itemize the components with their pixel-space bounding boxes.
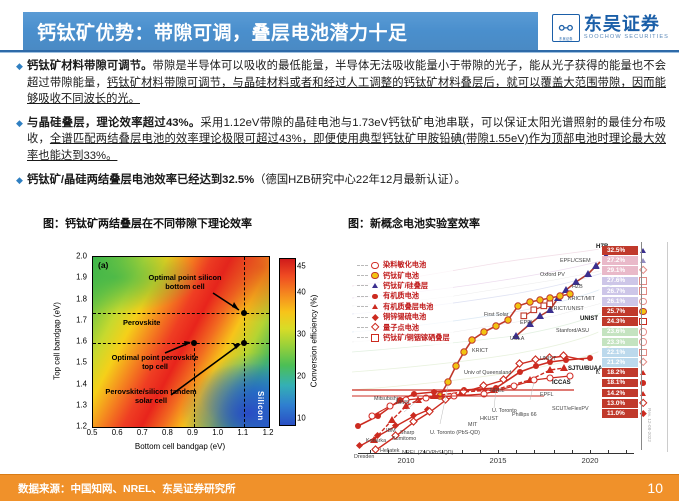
legend-line-icon [357, 275, 368, 276]
legend-label: 钙钛矿/铜铟镓硒叠层 [383, 333, 450, 343]
left-x-tick: 1.0 [212, 428, 223, 437]
institution-label: Phillips 66 [512, 412, 537, 418]
institution-label: KRICT/UNIST [550, 306, 584, 312]
left-x-tick: 0.5 [87, 428, 98, 437]
right-x-tickmark [590, 450, 591, 454]
legend-item: 有机质叠层电池 [357, 302, 450, 312]
institution-label: UNIST [540, 356, 556, 362]
endpoint-value: 24.3% [607, 318, 625, 325]
endpoint-value: 14.2% [607, 390, 625, 397]
endpoint-badge: 22.1% [602, 348, 638, 357]
left-y-tick: 2.0 [76, 252, 87, 261]
right-x-tickmark [424, 450, 425, 454]
logo-mark-subtext: 东吴证券 [553, 36, 579, 41]
legend-label: 钙钛矿电池 [383, 271, 419, 281]
bullet-item: ◆钙钛矿/晶硅两结叠层电池效率已经达到32.5%（德国HZB研究中心22年12月… [16, 172, 666, 189]
endpoint-value: 29.1% [607, 267, 625, 274]
right-x-tickmark [608, 450, 609, 454]
right-x-axis: 201020152020 [358, 453, 634, 454]
logo-text: 东吴证券 SOOCHOW SECURITIES [584, 15, 669, 41]
left-figure: Top cell bandgap (eV) 2.01.91.81.71.61.5… [36, 246, 332, 468]
left-y-tick: 1.6 [76, 337, 87, 346]
right-x-tickmark [462, 450, 463, 454]
left-x-tick: 0.6 [112, 428, 123, 437]
right-x-tickmark [442, 450, 443, 454]
colorbar-tick: 20 [297, 372, 306, 381]
legend-marker-icon [370, 334, 380, 341]
bullet-item: ◆与晶硅叠层，理论效率超过43%。采用1.12eV带隙的晶硅电池与1.73eV钙… [16, 115, 666, 165]
institution-label: Dresden [354, 454, 374, 460]
right-x-tick: 2020 [582, 456, 599, 465]
left-heatmap: (a) Optimal point silicon bottom cell Pe… [92, 256, 270, 428]
right-figure-caption: 图：新概念电池实验室效率 [348, 218, 638, 231]
bullet-list: ◆钙钛矿材料带隙可调节。带隙是半导体可以吸收的最低能量，半导体无法吸收能量小于带… [16, 58, 666, 195]
left-x-tick: 1.2 [263, 428, 274, 437]
right-x-tickmark [498, 450, 499, 454]
legend-item: 钙钛矿电池 [357, 270, 450, 280]
logo-swoosh-icon: ⚯ [559, 20, 573, 37]
legend-marker-icon [370, 262, 380, 269]
endpoint-badge: 11.0% [602, 409, 638, 418]
legend-line-icon [357, 327, 368, 328]
endpoint-value: 18.2% [607, 369, 625, 376]
left-y-tick: 1.2 [76, 422, 87, 431]
endpoint-badge: 14.2% [602, 389, 638, 398]
left-y-tick: 1.8 [76, 294, 87, 303]
endpoint-badge: 27.2% [602, 256, 638, 265]
bullet-text: 钙钛矿材料带隙可调节。带隙是半导体可以吸收的最低能量，半导体无法吸收能量小于带隙… [27, 58, 666, 108]
institution-label: First Solar [484, 312, 509, 318]
bullet-diamond-icon: ◆ [16, 176, 27, 185]
left-x-tick: 0.7 [137, 428, 148, 437]
legend-line-icon [357, 306, 368, 307]
page-title: 钙钛矿优势：带隙可调，叠层电池潜力十足 [23, 18, 408, 45]
institution-label: KRICT [472, 348, 488, 354]
endpoint-value: 18.1% [607, 379, 625, 386]
right-x-tickmark [534, 450, 535, 454]
institution-label: ICCAS [552, 380, 571, 386]
endpoint-value: 26.1% [607, 298, 625, 305]
left-y-tick: 1.4 [76, 379, 87, 388]
bullet-text: 与晶硅叠层，理论效率超过43%。采用1.12eV带隙的晶硅电池与1.73eV钙钛… [27, 115, 666, 165]
right-x-tickmark [388, 450, 389, 454]
colorbar [279, 258, 296, 426]
bullet-text-run: 与晶硅叠层，理论效率超过43%。 [27, 117, 200, 129]
institution-label: NIMS [396, 400, 409, 406]
right-x-tick: 2015 [490, 456, 507, 465]
legend-item: 有机质电池 [357, 291, 450, 301]
right-x-tickmark [406, 450, 407, 454]
institution-label: Oxford PV [540, 272, 565, 278]
endpoint-badge: 24.3% [602, 317, 638, 326]
institution-label: SCUT/eFlexPV [552, 406, 589, 412]
colorbar-tick: 10 [297, 414, 306, 423]
left-x-tick: 0.9 [187, 428, 198, 437]
legend-marker-icon [370, 304, 380, 309]
institution-label: Konarka [366, 438, 386, 444]
left-x-axis-label: Bottom cell bandgap (eV) [92, 442, 268, 451]
legend-item: 染料敏化电池 [357, 260, 450, 270]
legend-marker-icon [370, 294, 380, 300]
endpoint-badge: 18.2% [602, 368, 638, 377]
endpoint-value: 21.2% [607, 359, 625, 366]
institution-label: UNIST [580, 316, 598, 322]
data-source-label: 数据来源：中国知网、NREL、东吴证券研究所 [0, 481, 236, 496]
endpoint-badge: 32.5% [602, 246, 638, 255]
bullet-text-run: 钙钛矿材料带隙可调节。 [27, 60, 153, 72]
endpoint-value: 22.1% [607, 349, 625, 356]
right-x-tickmark [554, 450, 555, 454]
bullet-item: ◆钙钛矿材料带隙可调节。带隙是半导体可以吸收的最低能量，半导体无法吸收能量小于带… [16, 58, 666, 108]
endpoint-value: 25.7% [607, 308, 625, 315]
institution-label: UCLA [510, 336, 524, 342]
institution-label: Sumitomo [392, 436, 416, 442]
right-x-tickmark [516, 450, 517, 454]
endpoint-value: 23.3% [607, 339, 625, 346]
legend-label: 量子点电池 [383, 323, 419, 333]
legend-line-icon [357, 317, 368, 318]
institution-label: EPFL/CSEM [560, 258, 591, 264]
bullet-diamond-icon: ◆ [16, 119, 27, 128]
endpoint-badge: 21.2% [602, 358, 638, 367]
legend-marker-icon [370, 283, 380, 288]
title-bar: 钙钛矿优势：带隙可调，叠层电池潜力十足 [23, 12, 538, 50]
bullet-text-run: 钙钛矿/晶硅两结叠层电池效率已经达到32.5% [27, 174, 254, 186]
endpoint-value: 11.0% [607, 410, 625, 417]
endpoint-value: 23.6% [607, 328, 625, 335]
endpoint-value: 27.6% [607, 277, 625, 284]
legend-line-icon [357, 265, 368, 266]
endpoint-badge: 13.0% [602, 399, 638, 408]
endpoint-badge: 26.1% [602, 297, 638, 306]
slide: 钙钛矿优势：带隙可调，叠层电池潜力十足 ⚯ 东吴证券 东吴证券 SOOCHOW … [0, 0, 679, 501]
bullet-text-run: 全谱匹配两结叠层电池的效率理论极限可超过43%，即便使用典型钙钛矿甲胺铅碘(带隙… [27, 133, 666, 162]
bullet-text: 钙钛矿/晶硅两结叠层电池效率已经达到32.5%（德国HZB研究中心22年12月最… [27, 172, 666, 189]
institution-label: HZB [572, 284, 583, 290]
legend-marker-icon [370, 272, 380, 280]
institution-label: EPFL [520, 320, 533, 326]
institution-label: EPFL [540, 392, 553, 398]
slide-footer: 数据来源：中国知网、NREL、东吴证券研究所 10 [0, 475, 679, 501]
left-y-axis: Top cell bandgap (eV) 2.01.91.81.71.61.5… [44, 256, 90, 426]
right-x-tickmark [480, 450, 481, 454]
left-y-tick: 1.3 [76, 400, 87, 409]
endpoint-value: 13.0% [607, 400, 625, 407]
right-x-tickmark [626, 450, 627, 454]
right-x-tick: 2010 [398, 456, 415, 465]
right-figure: 染料敏化电池钙钛矿电池钙钛矿/硅叠层有机质电池有机质叠层电池铜锌锡硫电池量子点电… [344, 240, 674, 472]
endpoint-value: 32.5% [607, 247, 625, 254]
bullet-text-run: 钙钛矿材料带隙可调节，与晶硅材料或者和经过人工调整的钙钛矿材料叠层后，就可以覆盖… [27, 77, 666, 106]
legend-line-icon [357, 296, 368, 297]
logo-name-en: SOOCHOW SECURITIES [584, 35, 669, 41]
institution-label: Stanford/ASU [556, 328, 589, 334]
institution-label: Sharp [400, 430, 414, 436]
legend-item: 量子点电池 [357, 322, 450, 332]
institution-label: KRICT/MIT [568, 296, 595, 302]
legend-line-icon [357, 285, 368, 286]
legend-label: 有机质叠层电池 [383, 302, 433, 312]
left-y-axis-label: Top cell bandgap (eV) [52, 302, 61, 380]
legend-marker-icon [370, 324, 380, 330]
legend-label: 钙钛矿/硅叠层 [383, 281, 428, 291]
annotation-arrows [93, 257, 269, 427]
endpoint-value: 27.2% [607, 257, 625, 264]
left-y-tick: 1.5 [76, 358, 87, 367]
colorbar-label: Conversion efficiency (%) [310, 295, 319, 388]
legend-item: 钙钛矿/硅叠层 [357, 281, 450, 291]
endpoint-badge: 18.1% [602, 379, 638, 388]
institution-label: U. Toronto (PbS-QD) [430, 430, 480, 436]
endpoint-badge: 23.6% [602, 328, 638, 337]
endpoint-badge: 26.7% [602, 287, 638, 296]
logo-name-cn: 东吴证券 [584, 15, 669, 33]
institution-label: NREL [490, 388, 504, 394]
legend-item: 钙钛矿/铜铟镓硒叠层 [357, 333, 450, 343]
colorbar-tick: 45 [297, 262, 306, 271]
right-x-tickmark [370, 450, 371, 454]
chart-right-rule [641, 242, 642, 450]
slide-header: 钙钛矿优势：带隙可调，叠层电池潜力十足 ⚯ 东吴证券 东吴证券 SOOCHOW … [0, 0, 679, 52]
left-x-tick: 0.8 [162, 428, 173, 437]
left-x-tick: 1.1 [237, 428, 248, 437]
chart-outer-rule [667, 242, 668, 452]
legend-marker-icon [370, 315, 380, 320]
legend-label: 染料敏化电池 [383, 260, 426, 270]
endpoint-badge: 27.6% [602, 277, 638, 286]
institution-label: IBM [386, 428, 396, 434]
legend-item: 铜锌锡硫电池 [357, 312, 450, 322]
company-logo: ⚯ 东吴证券 东吴证券 SOOCHOW SECURITIES [552, 12, 669, 44]
endpoint-badge: 25.7% [602, 307, 638, 316]
bullet-text-run: （德国HZB研究中心22年12月最新认证）。 [254, 174, 466, 186]
endpoint-badge: 29.1% [602, 266, 638, 275]
chart-legend: 染料敏化电池钙钛矿电池钙钛矿/硅叠层有机质电池有机质叠层电池铜锌锡硫电池量子点电… [354, 258, 453, 345]
endpoint-badge: 23.3% [602, 338, 638, 347]
bullet-diamond-icon: ◆ [16, 62, 27, 71]
institution-label: Mitsubishi [374, 396, 398, 402]
page-number: 10 [647, 480, 679, 496]
header-divider-light [0, 52, 679, 53]
left-y-tick: 1.9 [76, 273, 87, 282]
legend-line-icon [357, 337, 368, 338]
left-y-tick: 1.7 [76, 315, 87, 324]
left-figure-caption: 图：钙钛矿两结叠层在不同带隙下理论效率 [43, 218, 313, 231]
legend-label: 有机质电池 [383, 291, 419, 301]
colorbar-tick: 40 [297, 288, 306, 297]
institution-label: HKUST [480, 416, 498, 422]
institution-label: MIT [468, 422, 477, 428]
colorbar-tick: 30 [297, 330, 306, 339]
chart-revision-note: Rev. 12-08-2022 [647, 408, 652, 442]
legend-label: 铜锌锡硫电池 [383, 312, 426, 322]
institution-label: Univ of Queensland [464, 370, 511, 376]
right-x-tickmark [572, 450, 573, 454]
endpoint-value: 26.7% [607, 288, 625, 295]
logo-mark-icon: ⚯ 东吴证券 [552, 14, 580, 42]
